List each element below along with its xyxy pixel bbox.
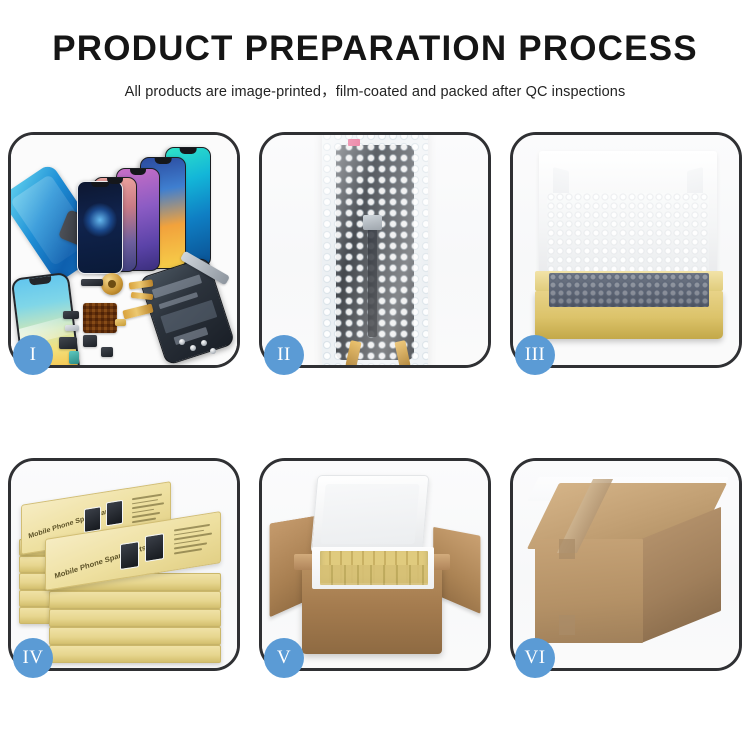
step-5-image — [262, 461, 488, 668]
stacked-retail-boxes-illustration: Mobile Phone Spare Parts — [11, 461, 237, 668]
bubble-wrapped-screen-illustration — [262, 135, 488, 365]
step-badge-6: VI — [515, 638, 555, 678]
process-step-panel-4[interactable]: Mobile Phone Spare Parts — [8, 458, 240, 671]
small-part-icon — [83, 335, 97, 347]
foam-sheet-icon — [547, 193, 709, 275]
open-inner-box-illustration — [513, 135, 739, 365]
packed-yellow-boxes-icon — [320, 565, 428, 585]
packing-tape-icon — [559, 615, 575, 635]
bubble-wrapped-contents-icon — [549, 273, 709, 307]
step-2-image — [262, 135, 488, 365]
foam-lid-icon — [311, 475, 430, 553]
camera-module-icon — [59, 337, 77, 349]
process-step-panel-1[interactable]: I — [8, 132, 240, 368]
screws-icon — [179, 339, 219, 355]
process-step-panel-2[interactable]: II — [259, 132, 491, 368]
connector-grid-icon — [83, 303, 117, 333]
small-part-icon — [63, 311, 79, 319]
packing-tape-icon — [559, 539, 575, 559]
earpiece-part-icon — [81, 279, 103, 286]
battery-connector-icon — [69, 351, 79, 364]
page-subtitle: All products are image-printed，film-coat… — [0, 80, 750, 101]
vibration-motor-icon — [101, 273, 123, 295]
process-step-grid: I II — [8, 132, 742, 671]
step-badge-4: IV — [13, 638, 53, 678]
gold-contact-icon — [115, 319, 126, 326]
sealed-shipping-carton-icon — [529, 483, 725, 651]
page-header: PRODUCT PREPARATION PROCESS All products… — [0, 0, 750, 101]
process-step-panel-3[interactable]: III — [510, 132, 742, 368]
step-badge-2: II — [264, 335, 304, 375]
carton-packing-illustration — [262, 461, 488, 668]
step-3-image — [513, 135, 739, 365]
step-6-image — [513, 461, 739, 668]
small-part-icon — [65, 325, 79, 331]
sealed-carton-illustration — [513, 461, 739, 668]
step-badge-3: III — [515, 335, 555, 375]
step-badge-1: I — [13, 335, 53, 375]
bubble-wrap-package-icon — [322, 135, 428, 365]
process-step-panel-5[interactable]: V — [259, 458, 491, 671]
phone-parts-assortment-illustration — [11, 135, 237, 365]
process-step-panel-6[interactable]: VI — [510, 458, 742, 671]
step-badge-5: V — [264, 638, 304, 678]
phone-lineup-icon — [83, 143, 237, 271]
step-1-image — [11, 135, 237, 365]
plastic-sheen — [322, 135, 428, 365]
small-part-icon — [101, 347, 113, 357]
step-4-image: Mobile Phone Spare Parts — [11, 461, 237, 668]
page-title: PRODUCT PREPARATION PROCESS — [0, 30, 750, 69]
yellow-box-tray-icon — [535, 291, 723, 339]
